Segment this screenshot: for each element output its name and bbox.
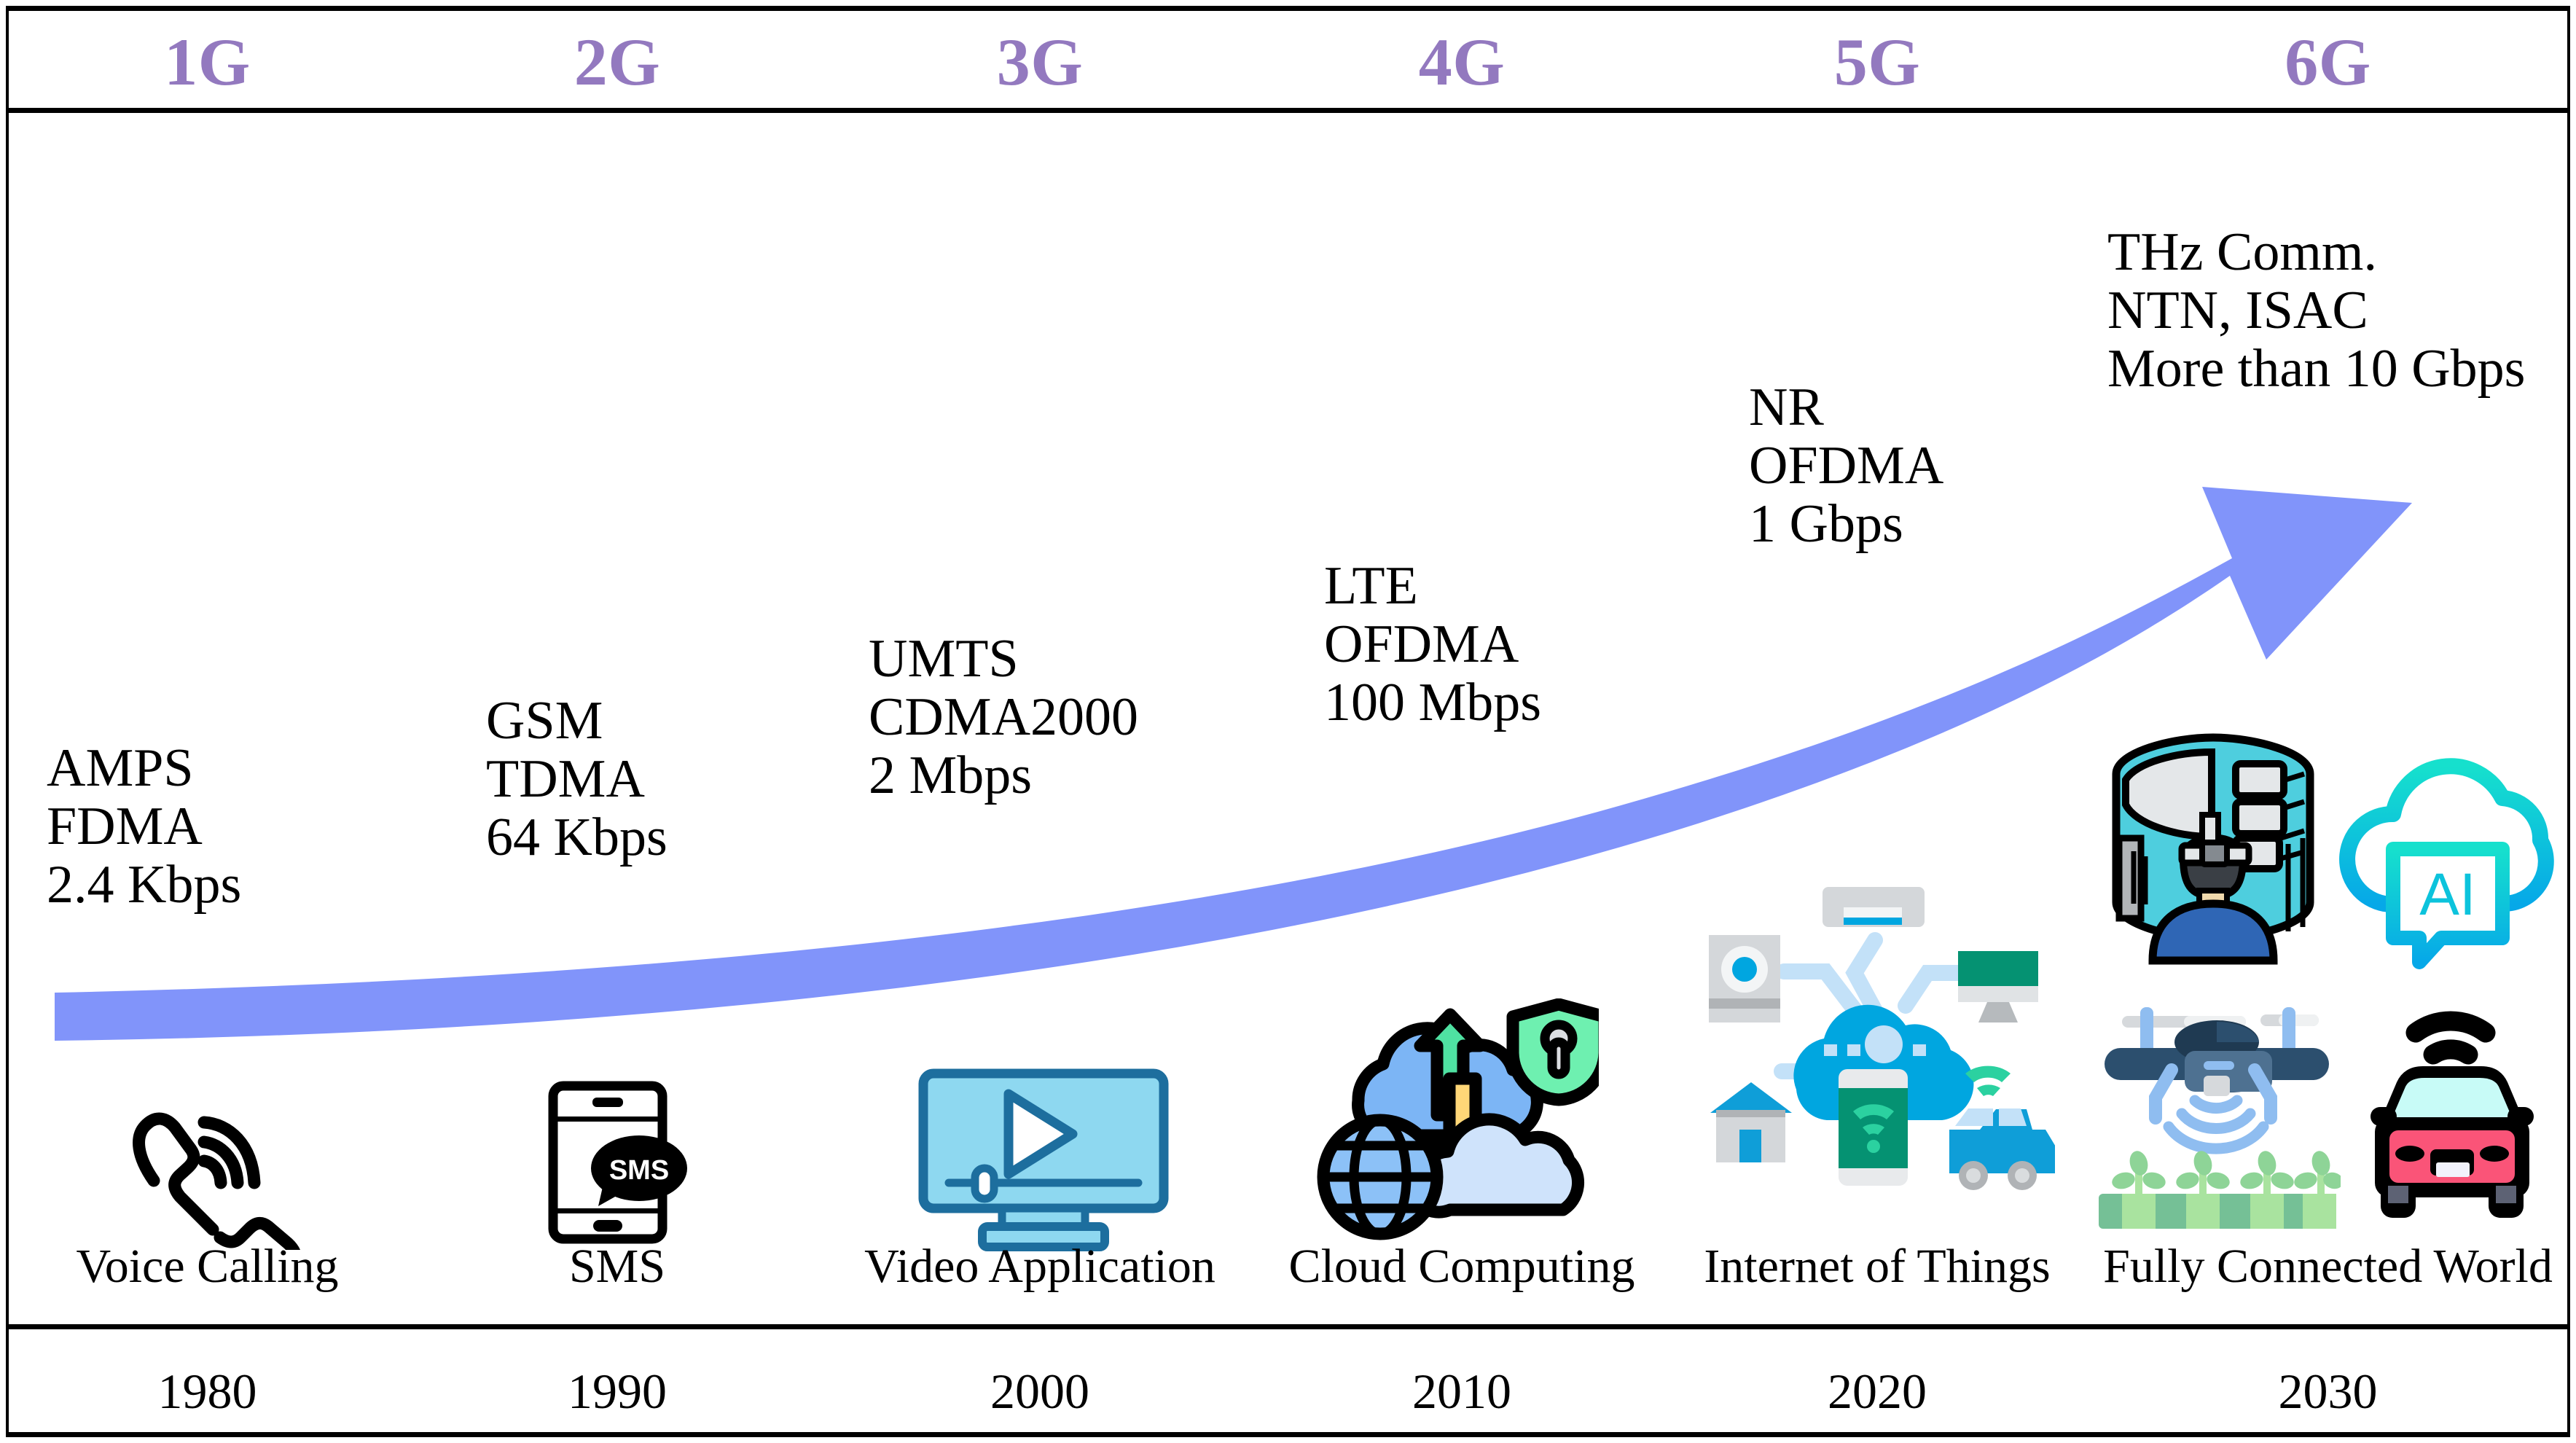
spec-text-3g: UMTS CDMA2000 2 Mbps	[869, 630, 1262, 805]
svg-text:AI: AI	[2419, 861, 2475, 928]
generation-label-5g: 5G	[1672, 11, 2082, 113]
generations-table: 1G AMPS FDMA 2.4 Kbps Voice Calling 1980	[6, 6, 2570, 1437]
year-label-1g: 1980	[9, 1366, 406, 1416]
generation-label-3g: 3G	[829, 11, 1251, 113]
application-label-3g: Video Application	[829, 1243, 1251, 1291]
sms-phone-icon: SMS	[522, 1071, 694, 1250]
generation-label-4g: 4G	[1255, 11, 1669, 113]
generation-column-2g: 2G GSM TDMA 64 Kbps SMS SMS 1990	[410, 11, 825, 1432]
cloud-computing-icon	[1307, 998, 1599, 1243]
year-label-4g: 2010	[1255, 1366, 1669, 1416]
svg-text:SMS: SMS	[609, 1155, 669, 1186]
spec-text-1g: AMPS FDMA 2.4 Kbps	[47, 740, 389, 915]
year-label-5g: 2020	[1672, 1366, 2082, 1416]
vr-user-icon	[2093, 729, 2333, 969]
ai-cloud-icon: AI	[2333, 740, 2563, 969]
generation-column-6g: 6G THz Comm. NTN, ISAC More than 10 Gbps	[2086, 11, 2570, 1432]
spec-text-5g: NR OFDMA 1 Gbps	[1749, 379, 2062, 554]
generation-column-1g: 1G AMPS FDMA 2.4 Kbps Voice Calling 1980	[9, 11, 406, 1432]
application-label-1g: Voice Calling	[9, 1243, 406, 1291]
iot-network-icon	[1687, 878, 2055, 1250]
smart-car-icon	[2330, 988, 2570, 1228]
year-label-3g: 2000	[829, 1366, 1251, 1416]
generation-label-6g: 6G	[2086, 11, 2570, 113]
application-label-4g: Cloud Computing	[1255, 1243, 1669, 1291]
phone-call-icon	[111, 1068, 308, 1250]
generation-column-3g: 3G UMTS CDMA2000 2 Mbps Video Applicatio…	[829, 11, 1251, 1432]
agri-drone-icon	[2093, 984, 2341, 1232]
spec-text-6g: THz Comm. NTN, ISAC More than 10 Gbps	[2107, 224, 2574, 399]
year-label-6g: 2030	[2086, 1366, 2570, 1416]
generation-label-1g: 1G	[9, 11, 406, 113]
generation-column-5g: 5G NR OFDMA 1 Gbps	[1672, 11, 2082, 1432]
generation-label-2g: 2G	[410, 11, 825, 113]
application-label-5g: Internet of Things	[1672, 1243, 2082, 1291]
video-monitor-icon	[905, 1060, 1182, 1257]
application-label-6g: Fully Connected World	[2086, 1243, 2570, 1291]
generation-column-4g: 4G LTE OFDMA 100 Mbps	[1255, 11, 1669, 1432]
spec-text-4g: LTE OFDMA 100 Mbps	[1324, 558, 1667, 732]
figure-root: 1G AMPS FDMA 2.4 Kbps Voice Calling 1980	[0, 0, 2576, 1443]
spec-text-2g: GSM TDMA 64 Kbps	[486, 692, 821, 867]
application-label-2g: SMS	[410, 1243, 825, 1291]
year-label-2g: 1990	[410, 1366, 825, 1416]
